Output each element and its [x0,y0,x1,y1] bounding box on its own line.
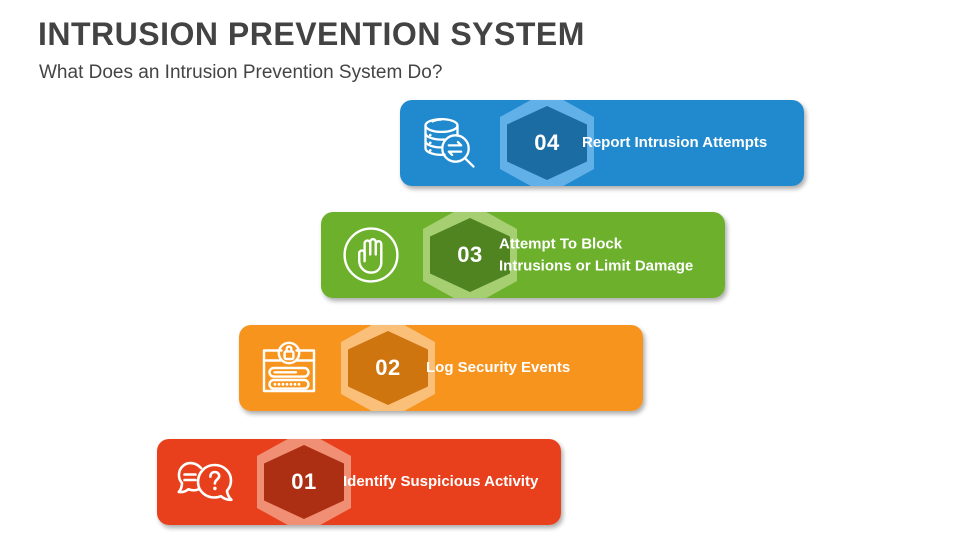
speech-bubbles-question-icon [173,451,241,513]
step-bar-04: 04 Report Intrusion Attempts [400,100,804,186]
raised-hand-stop-icon [337,224,405,286]
step-bar-01: 01 Identify Suspicious Activity [157,439,561,525]
step-number-04: 04 [500,100,594,186]
step-item-01[interactable]: 01 Identify Suspicious Activity [157,439,561,525]
step-bar-03: 03 Attempt To Block Intrusions or Limit … [321,212,725,298]
step-bar-02: 02 Log Security Events [239,325,643,411]
page-subtitle: What Does an Intrusion Prevention System… [39,62,442,84]
database-search-icon [416,112,484,174]
step-label-03: Attempt To Block Intrusions or Limit Dam… [499,233,693,277]
step-item-03[interactable]: 03 Attempt To Block Intrusions or Limit … [321,212,725,298]
step-hexagon-01: 01 [257,439,351,525]
step-label-02: Log Security Events [426,357,570,379]
page-title: INTRUSION PREVENTION SYSTEM [38,16,585,53]
slide-canvas: INTRUSION PREVENTION SYSTEM What Does an… [0,0,960,540]
step-label-01: Identify Suspicious Activity [343,471,538,493]
window-lock-form-icon [255,337,323,399]
step-item-04[interactable]: 04 Report Intrusion Attempts [400,100,804,186]
step-hexagon-02: 02 [341,325,435,411]
step-hexagon-04: 04 [500,100,594,186]
step-item-02[interactable]: 02 Log Security Events [239,325,643,411]
step-number-01: 01 [257,439,351,525]
step-number-02: 02 [341,325,435,411]
step-label-04: Report Intrusion Attempts [582,132,767,154]
